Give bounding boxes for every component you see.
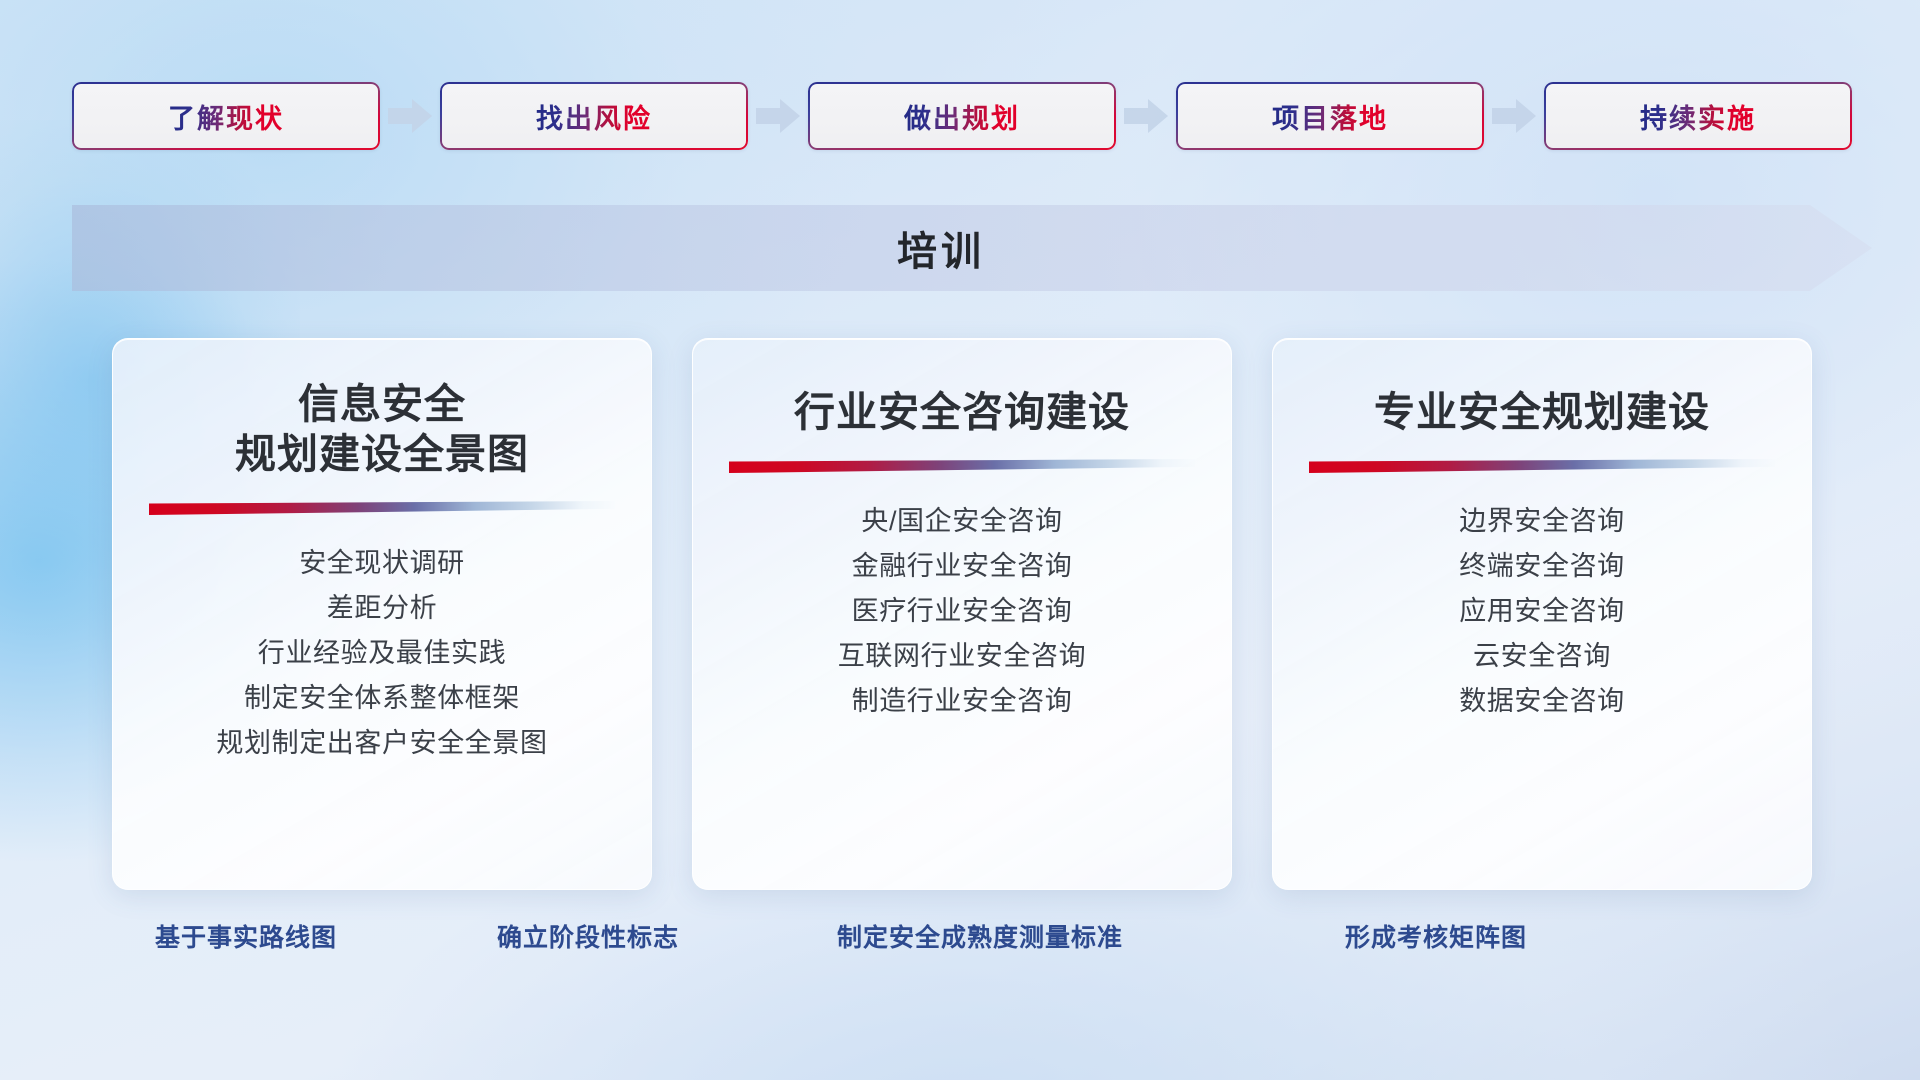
list-item: 应用安全咨询 [1299, 589, 1785, 634]
arrow-right-icon [388, 99, 432, 133]
process-step-label: 持续实施 [1640, 97, 1756, 136]
arrow-right-icon [1492, 99, 1536, 133]
card-title: 行业安全咨询建设 [794, 387, 1130, 437]
list-item: 终端安全咨询 [1299, 544, 1785, 589]
process-step-3[interactable]: 做出规划 [808, 82, 1116, 150]
card-group: 信息安全 规划建设全景图 安全现状调研 差距分析 行业经验及最佳实践 制定安全体… [112, 338, 1812, 890]
outcome-label: 确立阶段性标志 [497, 918, 679, 954]
outcome-label: 形成考核矩阵图 [1345, 918, 1527, 954]
process-flow: 了解现状 找出风险 做出规划 项目落地 [72, 78, 1852, 154]
card-title: 信息安全 规划建设全景图 [235, 379, 529, 479]
list-item: 云安全咨询 [1299, 634, 1785, 679]
training-banner: 培训 [72, 205, 1872, 291]
arrow-right-icon [1124, 99, 1168, 133]
outcome-labels: 基于事实路线图 确立阶段性标志 制定安全成熟度测量标准 形成考核矩阵图 [0, 918, 1920, 972]
card-industry-security-consulting[interactable]: 行业安全咨询建设 央/国企安全咨询 金融行业安全咨询 医疗行业安全咨询 互联网行… [692, 338, 1232, 890]
card-divider [729, 459, 1195, 473]
list-item: 安全现状调研 [139, 541, 625, 586]
card-item-list: 央/国企安全咨询 金融行业安全咨询 医疗行业安全咨询 互联网行业安全咨询 制造行… [719, 499, 1205, 724]
list-item: 医疗行业安全咨询 [719, 589, 1205, 634]
process-step-label: 找出风险 [536, 97, 652, 136]
process-step-5[interactable]: 持续实施 [1544, 82, 1852, 150]
process-step-4[interactable]: 项目落地 [1176, 82, 1484, 150]
list-item: 规划制定出客户安全全景图 [139, 721, 625, 766]
list-item: 数据安全咨询 [1299, 679, 1785, 724]
process-step-label: 项目落地 [1272, 97, 1388, 136]
process-step-1[interactable]: 了解现状 [72, 82, 380, 150]
outcome-label: 制定安全成熟度测量标准 [837, 918, 1123, 954]
card-professional-security-planning[interactable]: 专业安全规划建设 边界安全咨询 终端安全咨询 应用安全咨询 云安全咨询 数据安全… [1272, 338, 1812, 890]
process-step-2[interactable]: 找出风险 [440, 82, 748, 150]
banner-title: 培训 [72, 205, 1872, 291]
card-divider [149, 501, 615, 515]
card-divider [1309, 459, 1775, 473]
list-item: 互联网行业安全咨询 [719, 634, 1205, 679]
list-item: 金融行业安全咨询 [719, 544, 1205, 589]
arrow-right-icon [756, 99, 800, 133]
process-step-label: 了解现状 [168, 97, 284, 136]
list-item: 边界安全咨询 [1299, 499, 1785, 544]
card-information-security-blueprint[interactable]: 信息安全 规划建设全景图 安全现状调研 差距分析 行业经验及最佳实践 制定安全体… [112, 338, 652, 890]
card-item-list: 边界安全咨询 终端安全咨询 应用安全咨询 云安全咨询 数据安全咨询 [1299, 499, 1785, 724]
list-item: 制定安全体系整体框架 [139, 676, 625, 721]
list-item: 行业经验及最佳实践 [139, 631, 625, 676]
card-title: 专业安全规划建设 [1374, 387, 1710, 437]
process-step-label: 做出规划 [904, 97, 1020, 136]
card-item-list: 安全现状调研 差距分析 行业经验及最佳实践 制定安全体系整体框架 规划制定出客户… [139, 541, 625, 766]
list-item: 央/国企安全咨询 [719, 499, 1205, 544]
list-item: 制造行业安全咨询 [719, 679, 1205, 724]
slide-canvas: 了解现状 找出风险 做出规划 项目落地 [0, 0, 1920, 1080]
list-item: 差距分析 [139, 586, 625, 631]
outcome-label: 基于事实路线图 [155, 918, 337, 954]
